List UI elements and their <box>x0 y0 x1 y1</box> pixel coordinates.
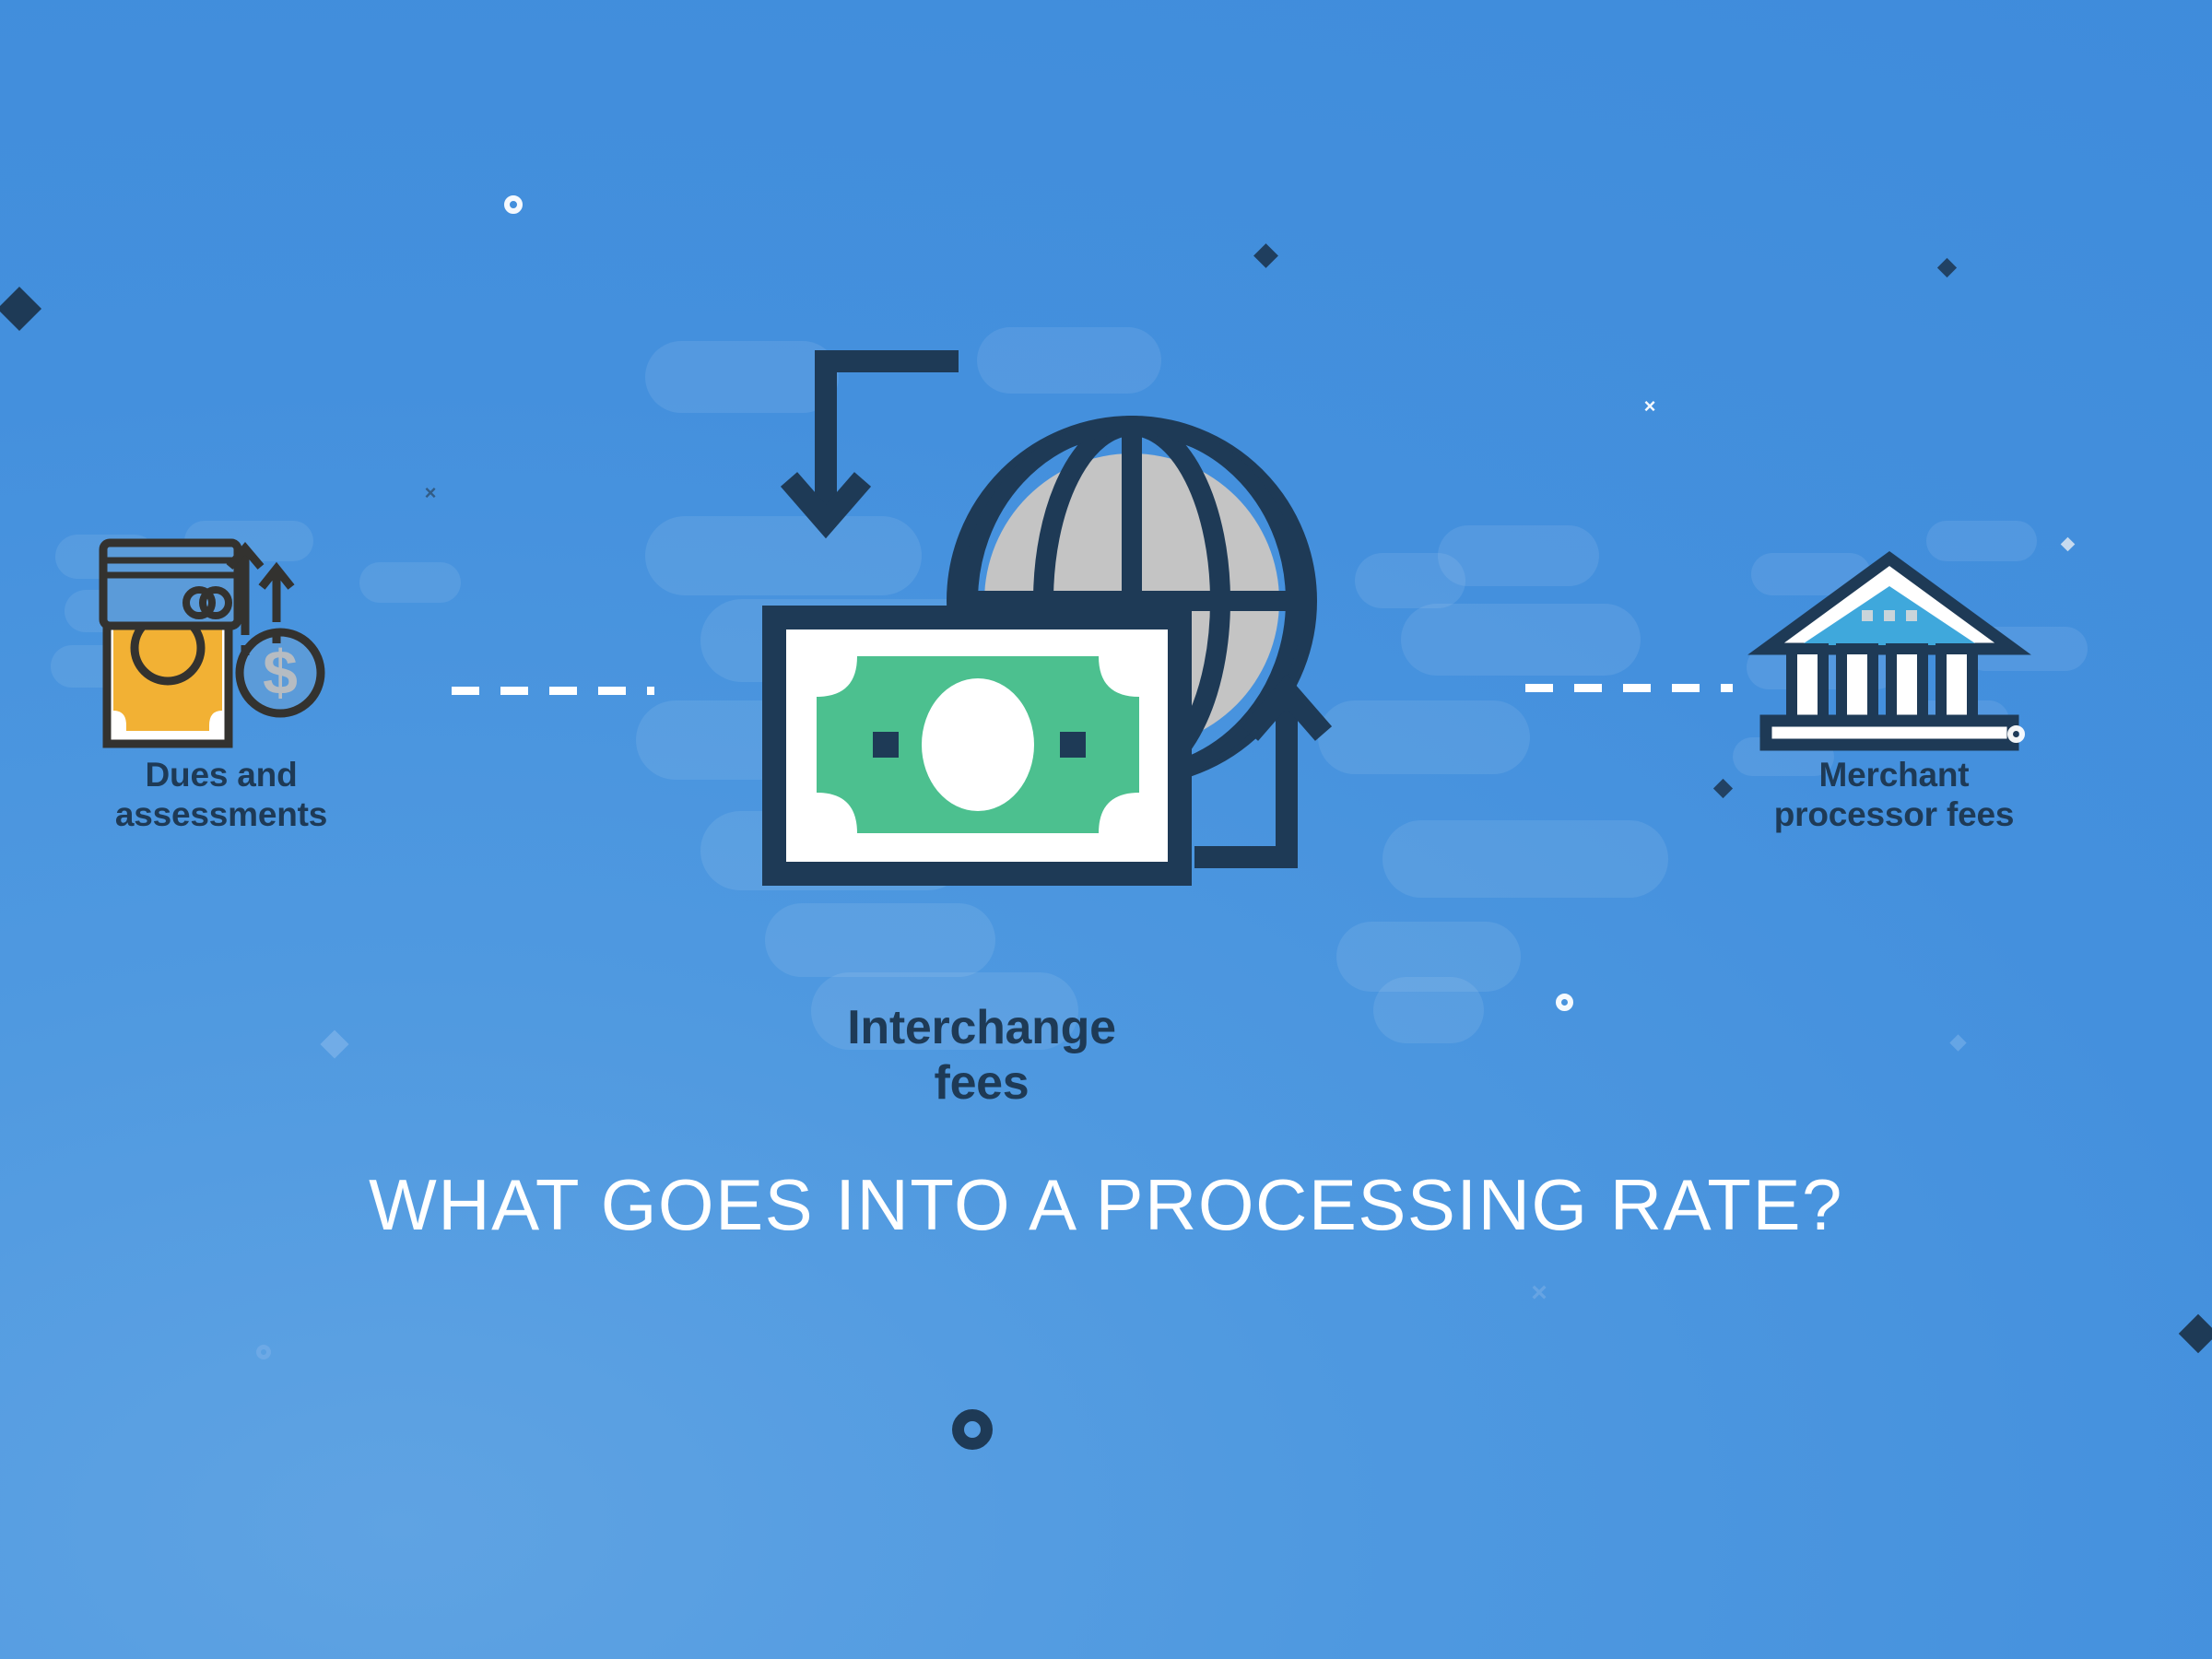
bg-blob <box>1373 977 1484 1043</box>
globe-banknote-icon <box>765 341 1401 986</box>
node-interchange-fees[interactable]: Interchange fees <box>765 341 1401 986</box>
diamond-blue-right-lower-icon <box>1949 1034 1966 1051</box>
node-merchant-label: Merchant processor fees <box>1710 756 2078 835</box>
x-navy-upper-left-icon: × <box>420 483 441 503</box>
diamond-navy-top-center-icon <box>1253 243 1278 268</box>
page-title: WHAT GOES INTO A PROCESSING RATE? <box>0 1169 2212 1241</box>
infographic-canvas: $ Dues and assessments <box>0 0 2212 1659</box>
credit-card-cash-coin-icon: $ <box>65 530 378 751</box>
x-white-upper-right-icon: × <box>1640 396 1660 417</box>
ring-white-upper-left-icon <box>504 195 523 214</box>
ring-white-center-lower-icon <box>1556 994 1573 1011</box>
diamond-navy-left-edge-icon <box>0 287 41 331</box>
bg-blob <box>1438 525 1599 586</box>
left-dashed-connector <box>452 687 654 695</box>
bg-blob <box>1401 604 1641 676</box>
bg-blob <box>1382 820 1668 898</box>
svg-text:$: $ <box>263 638 298 708</box>
banknote-graphic <box>774 618 1180 874</box>
x-blue-below-headline-icon: × <box>1525 1279 1553 1307</box>
node-dues-and-assessments[interactable]: $ Dues and assessments <box>65 530 378 751</box>
flow-arrow-down-left <box>789 361 959 522</box>
ring-blue-lower-left-icon <box>256 1345 271 1359</box>
node-dues-label: Dues and assessments <box>60 756 382 835</box>
diamond-blue-lower-left-icon <box>320 1030 348 1058</box>
node-interchange-label: Interchange fees <box>724 1000 1240 1112</box>
bank-building-icon <box>1760 553 2028 751</box>
diamond-navy-bottom-right-icon <box>2179 1314 2212 1353</box>
node-merchant-processor-fees[interactable]: Merchant processor fees <box>1760 553 2028 751</box>
diamond-navy-top-right-icon <box>1937 258 1957 277</box>
diamond-white-right-icon <box>2061 537 2076 552</box>
right-dashed-connector <box>1525 684 1733 692</box>
ring-navy-bottom-center-icon <box>952 1409 993 1450</box>
